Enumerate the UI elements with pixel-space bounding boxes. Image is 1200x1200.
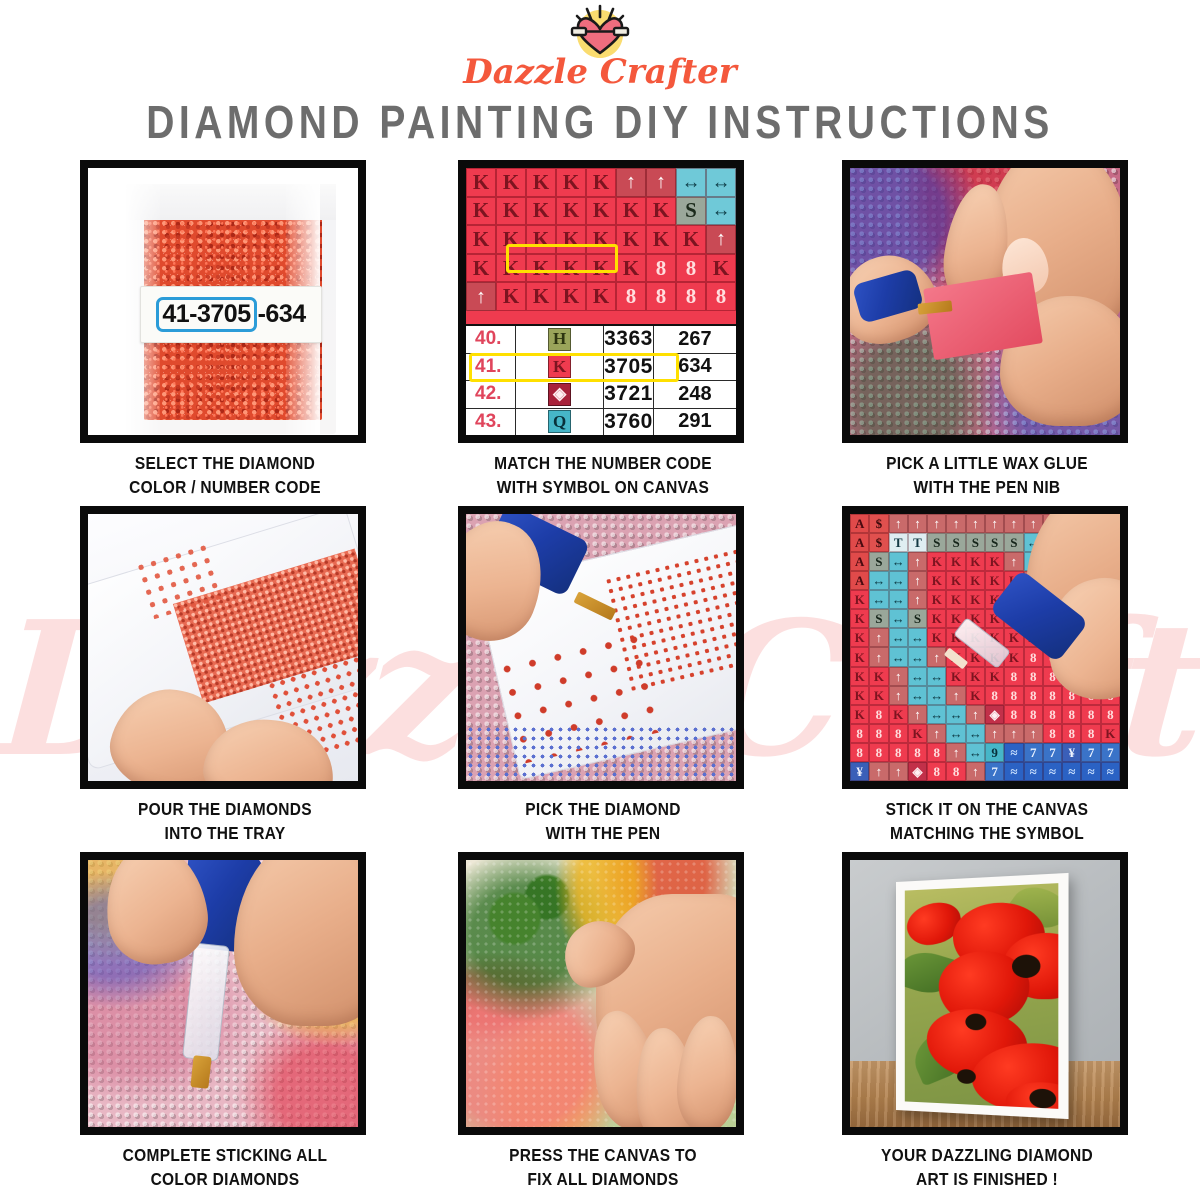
canvas-chart-cell: K [466,168,496,197]
canvas-grid-cell: ↑ [1004,552,1023,571]
step-1-caption-line2: COLOR / NUMBER CODE [80,476,370,500]
canvas-grid-cell: ↑ [966,705,985,724]
canvas-grid-cell: ↑ [946,686,965,705]
step-4-image [80,506,366,789]
canvas-grid-cell: 7 [1024,743,1043,762]
canvas-grid-cell: 8 [1062,724,1081,743]
step-7-image [80,852,366,1135]
canvas-grid-cell: A [850,571,869,590]
canvas-grid-cell: 8 [1024,667,1043,686]
step-5-caption-line1: PICK THE DIAMOND [525,800,681,819]
canvas-grid-cell: 8 [1081,724,1100,743]
step-4-caption-line2: INTO THE TRAY [80,822,370,846]
legend-row: 40.H3363267 [466,326,736,354]
canvas-bottom-strip [466,725,736,781]
canvas-grid-cell: 8 [1024,686,1043,705]
canvas-grid-cell: ↑ [889,514,908,533]
canvas-grid-cell: ↑ [985,514,1004,533]
canvas-grid-cell: S [869,609,888,628]
canvas-chart-cell: K [526,168,556,197]
canvas-grid-cell: 8 [1004,667,1023,686]
step-5-caption: PICK THE DIAMOND WITH THE PEN [458,798,748,847]
legend-index: 43. [466,409,516,436]
step-6-caption-line2: MATCHING THE SYMBOL [842,822,1132,846]
canvas-grid-cell: ↑ [946,743,965,762]
instructions-row-3: COMPLETE STICKING ALL COLOR DIAMONDS [0,852,1200,1198]
step-2-caption: MATCH THE NUMBER CODE WITH SYMBOL ON CAN… [458,452,748,501]
step-card-8: PRESS THE CANVAS TO FIX ALL DIAMONDS [458,852,748,1187]
canvas-grid-cell: ↔ [908,667,927,686]
canvas-grid-cell: S [985,533,1004,552]
canvas-grid-cell: S [1004,533,1023,552]
canvas-chart-row: ↑KKKK8888 [466,282,736,311]
canvas-grid-cell: ↑ [966,762,985,781]
step-9-caption-line2: ART IS FINISHED ! [842,1168,1132,1192]
canvas-grid-cell: K [927,590,946,609]
canvas-grid-cell: 8 [1062,705,1081,724]
step-card-6: A$↑↑↑↑↑↑↑↑↑↑KKA$TTSSSSS↔↔SKKAS↔↑KKKK↑↔↔K… [842,506,1132,841]
legend-index: 42. [466,381,516,408]
canvas-grid-cell: ↔ [927,705,946,724]
canvas-grid-cell: K [869,686,888,705]
legend-color-code: 3363 [604,326,654,353]
legend-quantity: 291 [654,409,736,436]
step-card-9: YOUR DAZZLING DIAMOND ART IS FINISHED ! [842,852,1132,1187]
canvas-grid-cell: 9 [985,743,1004,762]
step-card-7: COMPLETE STICKING ALL COLOR DIAMONDS [80,852,370,1187]
canvas-chart-cell: K [466,254,496,283]
canvas-grid-cell: K [927,628,946,647]
canvas-grid-cell: ↑ [966,514,985,533]
canvas-grid-cell: K [946,571,965,590]
canvas-grid-cell: ↔ [889,571,908,590]
canvas-chart-cell: K [586,197,616,226]
canvas-grid-cell: K [850,705,869,724]
step-3-caption-line2: WITH THE PEN NIB [842,476,1132,500]
canvas-grid-cell: 8 [1043,724,1062,743]
step-3-caption: PICK A LITTLE WAX GLUE WITH THE PEN NIB [842,452,1132,501]
canvas-grid-cell: ↑ [908,705,927,724]
canvas-grid-cell: K [966,686,985,705]
canvas-grid-cell: 8 [1024,705,1043,724]
canvas-grid-cell: 7 [1081,743,1100,762]
canvas-chart-cell: K [526,197,556,226]
canvas-grid-cell: K [946,667,965,686]
canvas-chart-cell: K [556,282,586,311]
canvas-grid-cell: ↑ [908,571,927,590]
canvas-grid-cell: K [966,590,985,609]
canvas-grid-cell: ¥ [1062,743,1081,762]
step-1-caption: SELECT THE DIAMOND COLOR / NUMBER CODE [80,452,370,501]
step-8-caption: PRESS THE CANVAS TO FIX ALL DIAMONDS [458,1144,748,1193]
canvas-chart-cell: K [616,197,646,226]
legend-row: 43.Q3760291 [466,409,736,436]
legend-symbol-cell: K [516,354,604,381]
legend-color-code: 3721 [604,381,654,408]
diamond-bag-illustration: 41-3705-634 [88,168,358,435]
legend-symbol-cell: ◈ [516,381,604,408]
canvas-grid-cell: K [946,590,965,609]
canvas-grid-cell: ↔ [908,647,927,666]
canvas-grid-cell: K [966,571,985,590]
canvas-grid-cell: ↔ [966,724,985,743]
legend-index: 41. [466,354,516,381]
bag-label-code-highlight: 41-3705 [156,297,256,332]
canvas-grid-cell: 8 [908,743,927,762]
step-9-caption-line1: YOUR DAZZLING DIAMOND [881,1146,1093,1165]
step-1-image: 41-3705-634 [80,160,366,443]
canvas-chart-cell: ↔ [706,197,736,226]
legend-color-code: 3760 [604,409,654,436]
canvas-chart-cell: K [466,225,496,254]
canvas-grid-cell: ↑ [889,762,908,781]
legend-quantity: 634 [654,354,736,381]
canvas-chart-cell: K [556,197,586,226]
canvas-chart-cell: 8 [706,282,736,311]
legend-symbol-cell: H [516,326,604,353]
canvas-grid-cell: 8 [1101,705,1120,724]
canvas-chart-row: KKKKK↑↑↔↔ [466,168,736,197]
canvas-grid-cell: 8 [927,762,946,781]
step-9-image [842,852,1128,1135]
legend-quantity: 267 [654,326,736,353]
brand-logo [540,4,660,58]
legend-row: 41.K3705634 [466,354,736,382]
canvas-grid-cell: ↑ [869,762,888,781]
step-4-caption: POUR THE DIAMONDS INTO THE TRAY [80,798,370,847]
legend-symbol: ◈ [548,383,571,406]
canvas-chart-cell: K [496,197,526,226]
canvas-grid-cell: ¥ [850,762,869,781]
page-header: Dazzle Crafter DIAMOND PAINTING DIY INST… [0,0,1200,152]
step-7-caption-line2: COLOR DIAMONDS [80,1168,370,1192]
step-card-4: POUR THE DIAMONDS INTO THE TRAY [80,506,370,841]
step-2-image: KKKKK↑↑↔↔KKKKKKKS↔KKKKKKKK↑KKKKKK88K↑KKK… [458,160,744,443]
canvas-chart-cell: K [616,254,646,283]
canvas-grid-cell: K [927,609,946,628]
canvas-grid-cell: ≈ [1004,762,1023,781]
canvas-grid-cell: 7 [985,762,1004,781]
canvas-grid-cell: ↔ [889,628,908,647]
framed-artwork [896,873,1069,1119]
canvas-grid-cell: 8 [985,686,1004,705]
canvas-chart-cell: ↑ [646,168,676,197]
canvas-grid-cell: K [946,552,965,571]
canvas-chart-cell: K [496,282,526,311]
canvas-grid-cell: K [966,667,985,686]
canvas-grid-cell: K [927,571,946,590]
canvas-grid-cell: S [966,533,985,552]
canvas-grid-cell: ↔ [966,743,985,762]
canvas-grid-cell: ↔ [889,647,908,666]
canvas-chart-cell: ↑ [616,168,646,197]
canvas-chart-illustration: KKKKK↑↑↔↔KKKKKKKS↔KKKKKKKK↑KKKKKK88K↑KKK… [466,168,736,435]
canvas-grid-cell: S [908,609,927,628]
canvas-grid-cell: ≈ [1004,743,1023,762]
canvas-grid-cell: A [850,552,869,571]
hand [234,860,358,1026]
canvas-grid-cell: ↑ [889,686,908,705]
canvas-grid-cell: A [850,514,869,533]
bag-label-qty: -634 [258,300,306,328]
canvas-grid-cell: K [1101,724,1120,743]
step-card-2: KKKKK↑↑↔↔KKKKKKKS↔KKKKKKKK↑KKKKKK88K↑KKK… [458,160,748,495]
step-1-caption-line1: SELECT THE DIAMOND [135,454,315,473]
canvas-chart-cell: K [556,168,586,197]
canvas-chart-cell: K [706,254,736,283]
legend-table: 40.H336326741.K370563442.◈372124843.Q376… [466,324,736,435]
step-6-caption: STICK IT ON THE CANVAS MATCHING THE SYMB… [842,798,1132,847]
canvas-grid-cell: ◈ [908,762,927,781]
step-8-caption-line2: FIX ALL DIAMONDS [458,1168,748,1192]
canvas-chart-cell: ↔ [676,168,706,197]
canvas-chart-cell: K [496,168,526,197]
canvas-grid-cell: ↑ [946,514,965,533]
poppy-painting [905,883,1059,1109]
step-card-5: PICK THE DIAMOND WITH THE PEN [458,506,748,841]
canvas-chart-cell: K [616,225,646,254]
canvas-grid-cell: ↔ [869,571,888,590]
page-title: DIAMOND PAINTING DIY INSTRUCTIONS [0,98,1200,150]
canvas-grid-cell: K [850,590,869,609]
canvas-grid-cell: 8 [1004,705,1023,724]
canvas-chart-cell: S [676,197,706,226]
step-8-caption-line1: PRESS THE CANVAS TO [509,1146,697,1165]
canvas-chart-cell: ↔ [706,168,736,197]
canvas-chart-cell: 8 [646,254,676,283]
canvas-chart-cell: 8 [676,282,706,311]
canvas-grid-cell: S [869,552,888,571]
step-5-image [458,506,744,789]
canvas-grid-cell: ≈ [1101,762,1120,781]
canvas-grid-cell: 8 [850,724,869,743]
canvas-grid-cell: ↔ [889,590,908,609]
heart-with-arrow-sunburst-icon [540,4,660,58]
canvas-grid-cell: ≈ [1081,762,1100,781]
canvas-grid-cell: ↔ [889,552,908,571]
canvas-grid-cell: 8 [869,705,888,724]
canvas-grid-cell: 8 [946,762,965,781]
canvas-grid-cell: ↑ [869,628,888,647]
legend-color-code: 3705 [604,354,654,381]
canvas-grid-cell: $ [869,533,888,552]
step-3-image [842,160,1128,443]
step-6-image: A$↑↑↑↑↑↑↑↑↑↑KKA$TTSSSSS↔↔SKKAS↔↑KKKK↑↔↔K… [842,506,1128,789]
canvas-grid-cell: 8 [1043,686,1062,705]
canvas-grid-cell: ↔ [946,705,965,724]
canvas-chart-cell: 8 [616,282,646,311]
canvas-grid-cell: K [985,667,1004,686]
canvas-grid-cell: 8 [889,743,908,762]
canvas-grid-cell: ↑ [927,514,946,533]
canvas-grid-cell: K [985,571,1004,590]
canvas-grid-cell: K [850,647,869,666]
canvas-chart-cell: K [676,225,706,254]
canvas-chart-cell: K [586,282,616,311]
canvas-grid-cell: $ [869,514,888,533]
canvas-grid-cell: ↔ [889,609,908,628]
canvas-grid-cell: ↑ [908,552,927,571]
canvas-grid-cell: ≈ [1062,762,1081,781]
canvas-grid-cell: ↔ [946,724,965,743]
canvas-grid-cell: 8 [889,724,908,743]
canvas-grid-cell: ↑ [908,590,927,609]
canvas-grid-cell: ◈ [985,705,1004,724]
step-9-caption: YOUR DAZZLING DIAMOND ART IS FINISHED ! [842,1144,1132,1193]
canvas-grid-cell: ↑ [1004,724,1023,743]
instructions-row-1: 41-3705-634 SELECT THE DIAMOND COLOR / N… [0,160,1200,506]
step-3-caption-line1: PICK A LITTLE WAX GLUE [886,454,1088,473]
canvas-chart-cell: 8 [676,254,706,283]
canvas-grid-cell: 8 [1004,686,1023,705]
canvas-grid-cell: ↑ [869,647,888,666]
canvas-grid-cell: S [927,533,946,552]
step-7-caption-line1: COMPLETE STICKING ALL [123,1146,328,1165]
canvas-grid-cell: K [927,552,946,571]
canvas-grid-cell: ↔ [927,686,946,705]
canvas-grid-cell: K [850,686,869,705]
canvas-grid-cell: K [850,628,869,647]
step-card-3: PICK A LITTLE WAX GLUE WITH THE PEN NIB [842,160,1132,495]
pen-nib [190,1055,211,1089]
step-2-caption-line1: MATCH THE NUMBER CODE [494,454,712,473]
step-8-image [458,852,744,1135]
canvas-grid-cell: S [946,533,965,552]
canvas-grid-cell: T [889,533,908,552]
canvas-chart-cell: ↑ [466,282,496,311]
canvas-grid-cell: ↔ [869,590,888,609]
canvas-chart-cell: ↑ [706,225,736,254]
canvas-grid-cell: ↑ [1024,724,1043,743]
canvas-grid-cell: ↑ [927,724,946,743]
canvas-grid-cell: K [850,667,869,686]
step-7-caption: COMPLETE STICKING ALL COLOR DIAMONDS [80,1144,370,1193]
canvas-chart-cell: 8 [646,282,676,311]
canvas-grid-cell: ↑ [927,647,946,666]
step-4-caption-line1: POUR THE DIAMONDS [138,800,312,819]
legend-index: 40. [466,326,516,353]
canvas-grid-cell: K [869,667,888,686]
canvas-grid-cell: 8 [927,743,946,762]
instructions-grid: 41-3705-634 SELECT THE DIAMOND COLOR / N… [0,160,1200,1198]
canvas-grid-cell: ≈ [1024,762,1043,781]
legend-row: 42.◈3721248 [466,381,736,409]
canvas-grid-cell: ↑ [889,667,908,686]
legend-symbol: H [548,328,571,351]
canvas-chart-cell: K [646,197,676,226]
canvas-grid-cell: T [908,533,927,552]
canvas-grid-cell: K [985,552,1004,571]
canvas-grid-cell: ↔ [927,667,946,686]
bag-label: 41-3705-634 [140,286,322,343]
canvas-grid-cell: A [850,533,869,552]
canvas-grid-cell: ↑ [1004,514,1023,533]
brand-name: Dazzle Crafter [0,52,1200,92]
canvas-chart-cell: K [586,168,616,197]
canvas-grid-cell: 8 [869,743,888,762]
canvas-grid-cell: 8 [1043,705,1062,724]
step-6-caption-line1: STICK IT ON THE CANVAS [886,800,1089,819]
bag-label-text: 41-3705-634 [156,300,305,329]
canvas-grid-cell: ↔ [908,686,927,705]
canvas-chart-cell: K [646,225,676,254]
step-card-1: 41-3705-634 SELECT THE DIAMOND COLOR / N… [80,160,370,495]
canvas-grid-cell: K [966,552,985,571]
canvas-grid-cell: 8 [1081,705,1100,724]
canvas-grid-cell: K [850,609,869,628]
canvas-chart-cell: K [526,282,556,311]
legend-symbol: Q [548,410,571,433]
canvas-grid-cell: K [908,724,927,743]
step-5-caption-line2: WITH THE PEN [458,822,748,846]
canvas-grid-cell: 7 [1101,743,1120,762]
canvas-chart-cell: K [466,197,496,226]
canvas-grid-cell: ≈ [1043,762,1062,781]
legend-quantity: 248 [654,381,736,408]
instructions-row-2: POUR THE DIAMONDS INTO THE TRAY [0,506,1200,852]
canvas-grid-cell: 8 [850,743,869,762]
canvas-grid-cell: ↑ [985,724,1004,743]
canvas-grid-cell: ↑ [908,514,927,533]
legend-symbol-cell: Q [516,409,604,436]
legend-symbol: K [548,355,571,378]
canvas-grid-cell: 7 [1043,743,1062,762]
step-2-caption-line2: WITH SYMBOL ON CANVAS [458,476,748,500]
canvas-grid-cell: ↔ [908,628,927,647]
canvas-chart-row: KKKKKKKS↔ [466,197,736,226]
canvas-grid-cell: K [889,705,908,724]
chart-highlight-box [506,244,618,273]
canvas-grid-cell: 8 [869,724,888,743]
